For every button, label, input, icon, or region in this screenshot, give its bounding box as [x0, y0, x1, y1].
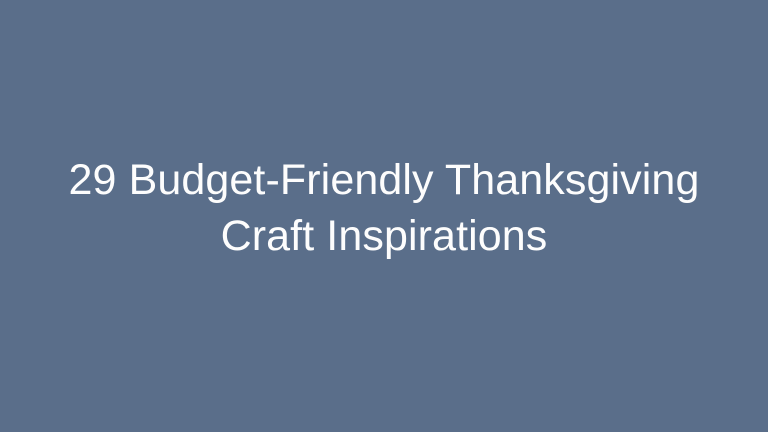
hero-banner: 29 Budget-Friendly Thanksgiving Craft In…	[0, 0, 768, 432]
hero-title-block: 29 Budget-Friendly Thanksgiving Craft In…	[0, 152, 768, 264]
page-title: 29 Budget-Friendly Thanksgiving Craft In…	[36, 152, 732, 264]
